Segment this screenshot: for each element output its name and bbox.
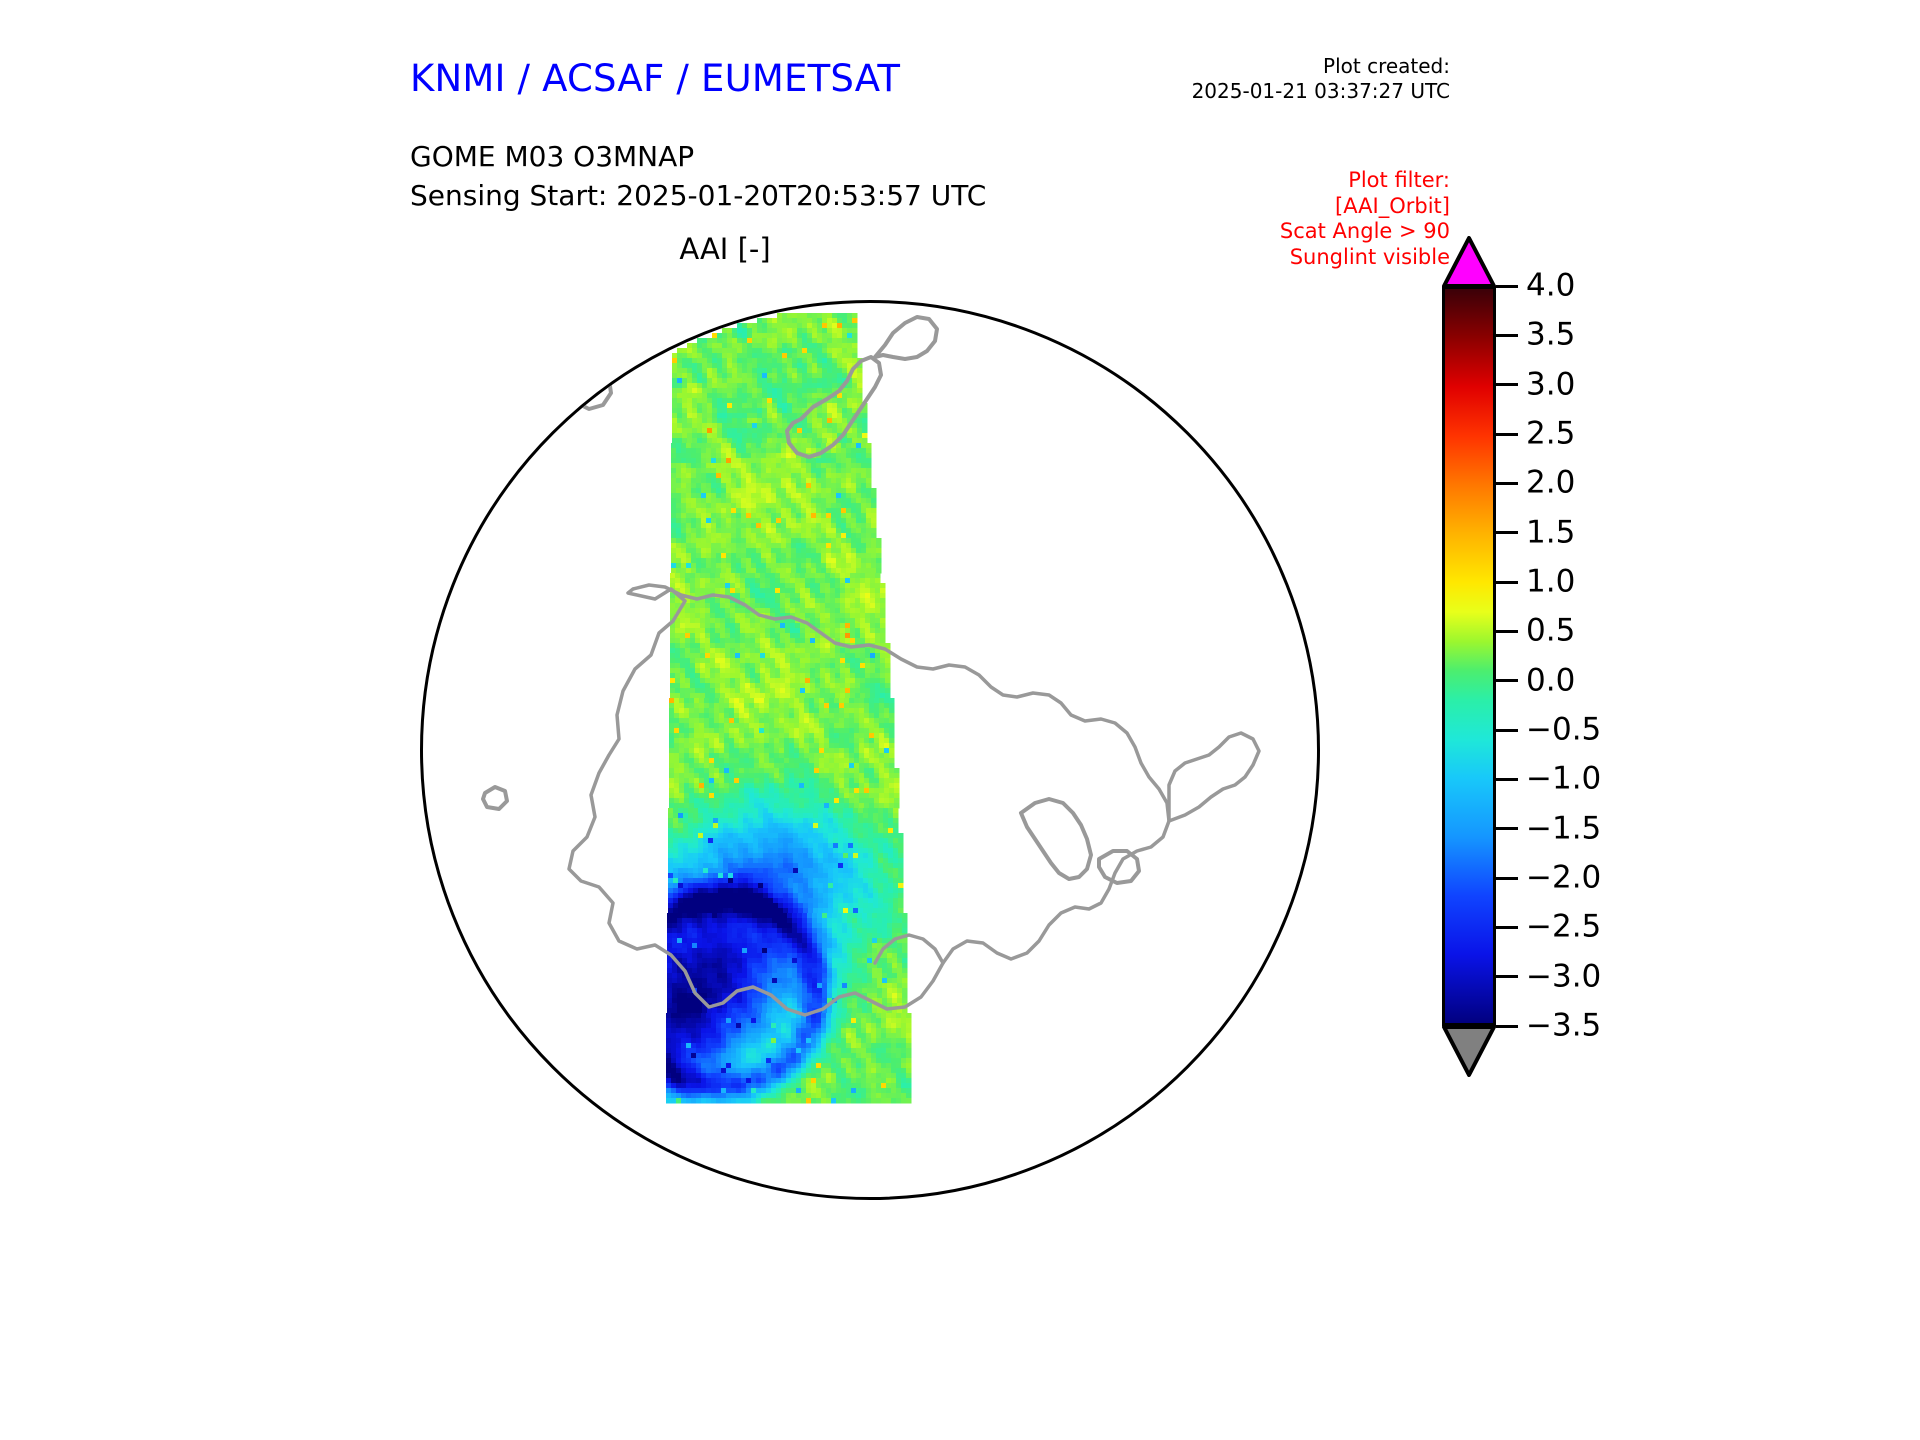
- colorbar-tick-mark: [1496, 877, 1518, 880]
- colorbar-tick-label: 2.5: [1526, 419, 1575, 450]
- plot-filter-scat-angle: Scat Angle > 90: [1030, 219, 1450, 245]
- colorbar-tick-label: 0.0: [1526, 665, 1575, 696]
- colorbar-tick-mark: [1496, 334, 1518, 337]
- colorbar-gradient[interactable]: [1442, 286, 1496, 1026]
- colorbar-tick-label: 1.5: [1526, 517, 1575, 548]
- colorbar-tick-label: 0.5: [1526, 616, 1575, 647]
- colorbar-tick-label: −3.5: [1526, 1011, 1601, 1042]
- plot-filter-block: Plot filter: [AAI_Orbit] Scat Angle > 90…: [1030, 168, 1450, 270]
- colorbar-tick-label: −1.0: [1526, 764, 1601, 795]
- coastline-south-america-tip: [1021, 799, 1091, 879]
- colorbar-tick-mark: [1496, 778, 1518, 781]
- coastline-nz-north-island: [875, 317, 937, 359]
- colorbar-tick-label: −2.0: [1526, 863, 1601, 894]
- colorbar-tick-label: −3.0: [1526, 961, 1601, 992]
- org-title: KNMI / ACSAF / EUMETSAT: [410, 57, 900, 100]
- colorbar-tick-label: −1.5: [1526, 813, 1601, 844]
- colorbar-tick-mark: [1496, 531, 1518, 534]
- plot-filter-label: Plot filter:: [1030, 168, 1450, 194]
- plot-created-timestamp: 2025-01-21 03:37:27 UTC: [1030, 79, 1450, 104]
- colorbar-tick-mark: [1496, 581, 1518, 584]
- map-canvas: [423, 303, 1320, 1200]
- colorbar-tick-mark: [1496, 679, 1518, 682]
- colorbar-over-arrow-icon: [1442, 236, 1496, 288]
- plot-filter-sunglint: Sunglint visible: [1030, 245, 1450, 271]
- colorbar-tick-label: 4.0: [1526, 271, 1575, 302]
- colorbar-tick-mark: [1496, 630, 1518, 633]
- colorbar-tick-mark: [1496, 729, 1518, 732]
- plot-created-label: Plot created:: [1030, 54, 1450, 79]
- colorbar-tick-mark: [1496, 827, 1518, 830]
- colorbar-tick-label: 1.0: [1526, 567, 1575, 598]
- colorbar-tick-mark: [1496, 1025, 1518, 1028]
- product-name: GOME M03 O3MNAP: [410, 137, 986, 176]
- colorbar-tick-mark: [1496, 285, 1518, 288]
- plot-filter-orbit: [AAI_Orbit]: [1030, 194, 1450, 220]
- coastline-tasmania: [571, 371, 611, 409]
- polar-projection-disc[interactable]: [420, 300, 1320, 1200]
- colorbar-under-arrow-icon: [1442, 1025, 1496, 1077]
- colorbar-tick-label: 3.0: [1526, 369, 1575, 400]
- colorbar-tick-label: 3.5: [1526, 320, 1575, 351]
- coastline-small-island: [483, 787, 507, 809]
- colorbar-tick-mark: [1496, 482, 1518, 485]
- sensing-start: Sensing Start: 2025-01-20T20:53:57 UTC: [410, 176, 986, 215]
- colorbar-tick-mark: [1496, 975, 1518, 978]
- colorbar-tick-mark: [1496, 433, 1518, 436]
- map-plot-area[interactable]: [400, 280, 1340, 1220]
- colorbar[interactable]: 4.03.53.02.52.01.51.00.50.0−0.5−1.0−1.5−…: [1442, 236, 1742, 1296]
- colorbar-tick-label: −0.5: [1526, 715, 1601, 746]
- colorbar-tick-label: −2.5: [1526, 912, 1601, 943]
- plot-created-block: Plot created: 2025-01-21 03:37:27 UTC: [1030, 54, 1450, 104]
- colorbar-tick-mark: [1496, 926, 1518, 929]
- coastline-peninsula: [1169, 733, 1259, 821]
- colorbar-tick-label: 2.0: [1526, 468, 1575, 499]
- colorbar-tick-mark: [1496, 383, 1518, 386]
- product-info-block: GOME M03 O3MNAP Sensing Start: 2025-01-2…: [410, 137, 986, 215]
